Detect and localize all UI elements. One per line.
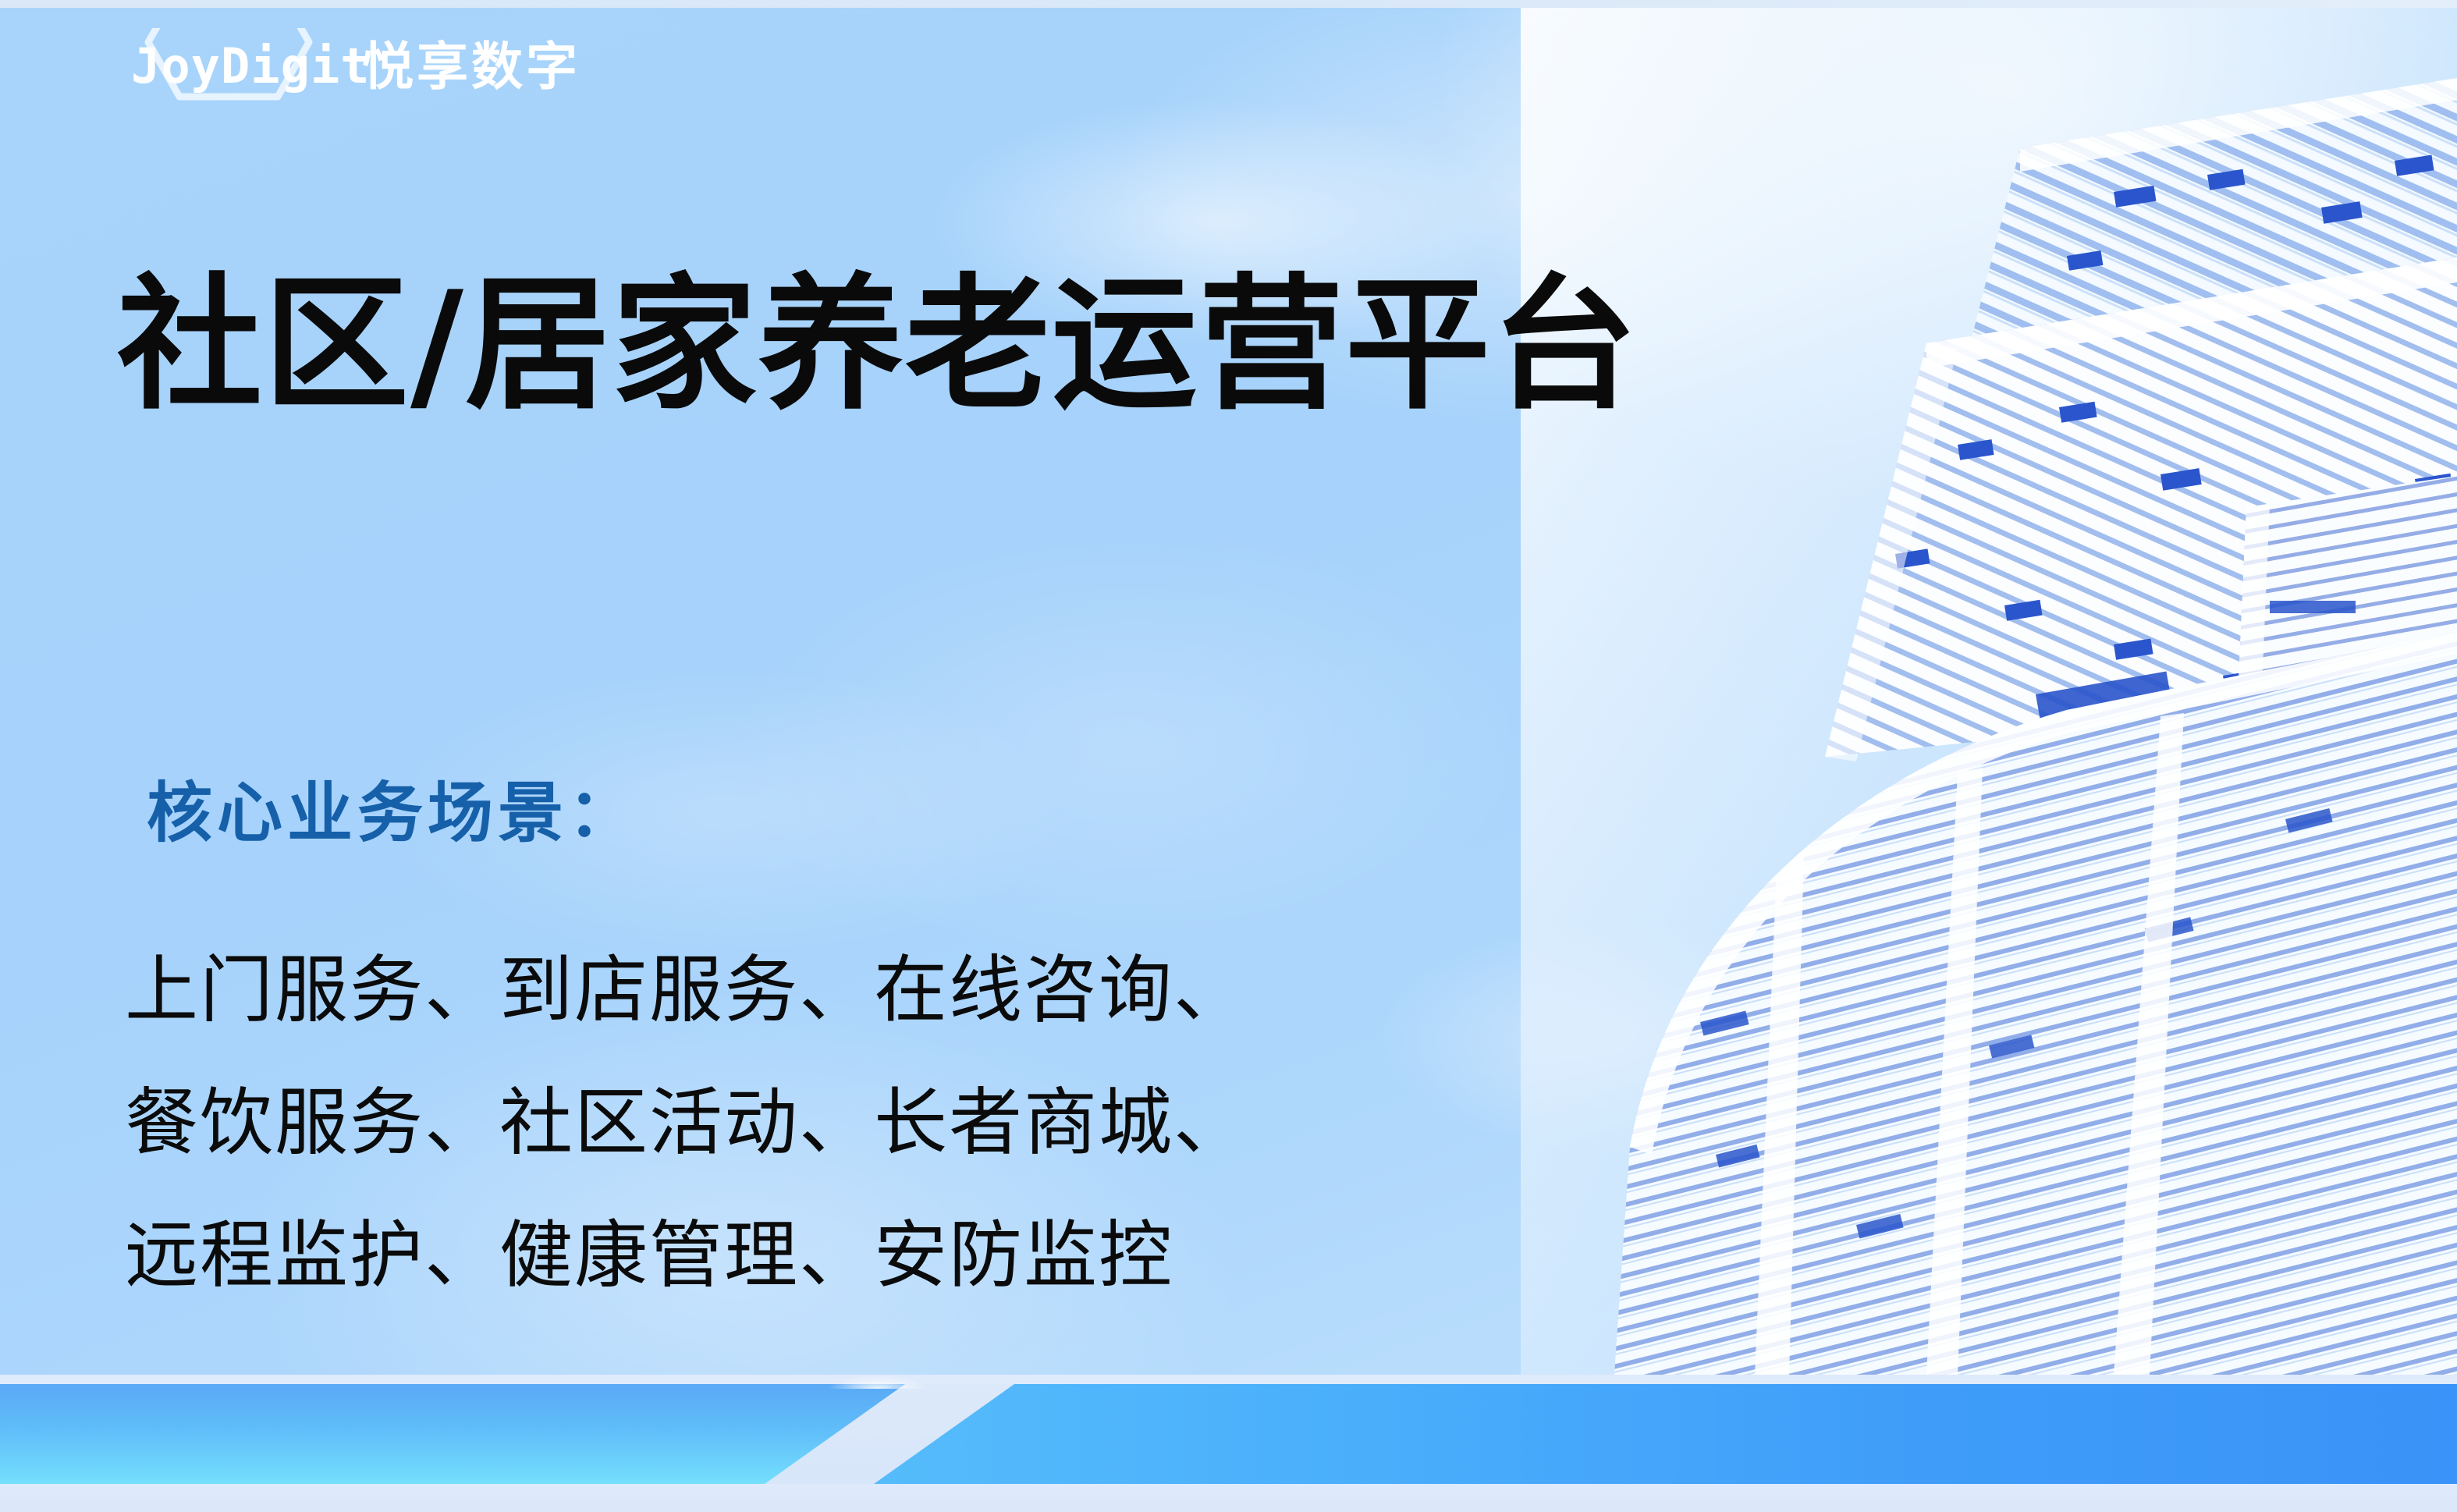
top-rail xyxy=(0,0,2457,8)
footer-band-wedge xyxy=(0,1384,921,1484)
cloud-wisp-icon xyxy=(827,1375,928,1389)
scenario-line: 远程监护、健康管理、安防监控 xyxy=(125,1190,1248,1322)
footer-base xyxy=(0,1484,2457,1512)
scenario-list: 上门服务、到店服务、在线咨询、 餐饮服务、社区活动、长者商城、 远程监护、健康管… xyxy=(125,925,1248,1322)
brand-logo: JoyDigit 悦享数字 xyxy=(131,28,662,120)
slide-root: JoyDigit 悦享数字 JoyDigit 悦享数字 社区/居家养老运营平台 … xyxy=(0,0,2457,1512)
section-heading: 核心业务场景： xyxy=(147,780,638,846)
page-title: 社区/居家养老运营平台 xyxy=(117,264,2255,426)
skyscraper-photo xyxy=(1521,8,2457,1375)
footer-decoration xyxy=(0,1375,2457,1512)
logo-cn-text: 悦享数字 xyxy=(362,37,581,97)
logo-latin-text: JoyDigit xyxy=(131,37,371,94)
scenario-line: 上门服务、到店服务、在线咨询、 xyxy=(125,925,1248,1057)
scenario-line: 餐饮服务、社区活动、长者商城、 xyxy=(125,1057,1248,1190)
